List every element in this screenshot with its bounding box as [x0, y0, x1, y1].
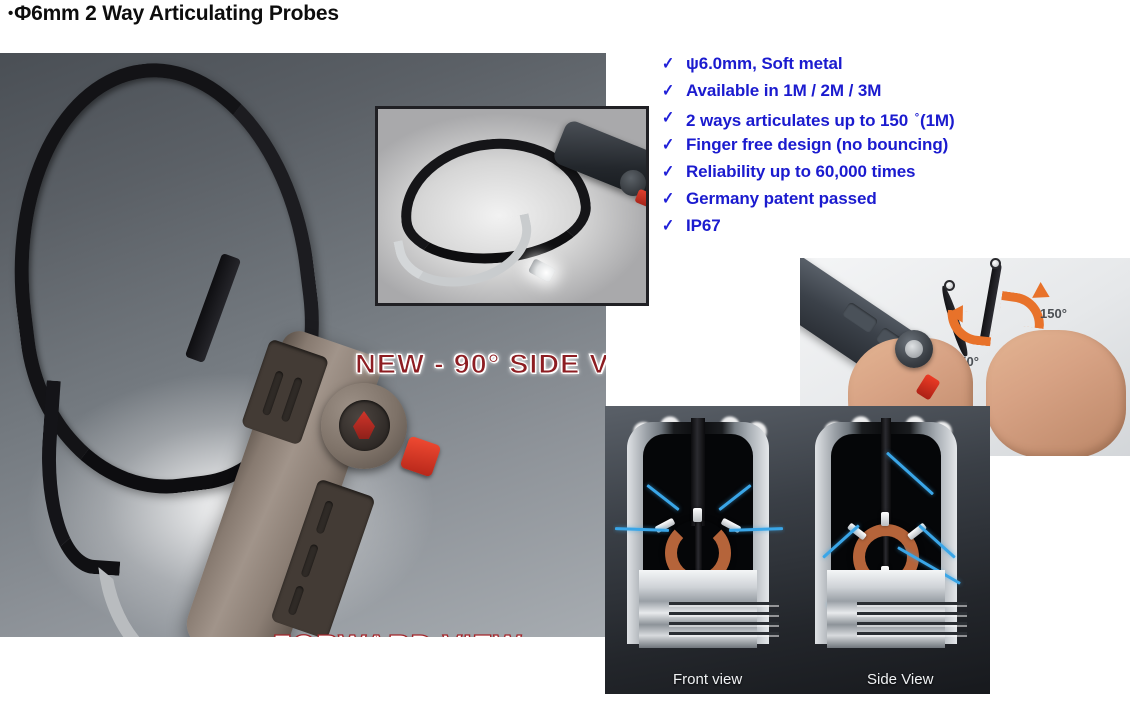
feature-list: ✓ ψ6.0mm, Soft metal ✓ Available in 1M /…: [660, 52, 1130, 241]
piston-ring: [857, 602, 967, 605]
probe-tip-icon: [944, 280, 955, 291]
check-icon: ✓: [662, 106, 684, 130]
list-item: ✓ Reliability up to 60,000 times: [660, 160, 1130, 187]
list-item: ✓ Finger free design (no bouncing): [660, 133, 1130, 160]
piston: [827, 570, 945, 648]
piston-ring: [857, 632, 967, 635]
right-hand: [986, 330, 1126, 456]
grip-rib: [315, 500, 334, 535]
front-view-diagram: [613, 412, 785, 650]
red-trigger-button[interactable]: [400, 436, 442, 478]
page-title: •Φ6mm 2 Way Articulating Probes: [8, 2, 339, 26]
feature-label: 2 ways articulates up to 150 °(1M): [686, 106, 955, 133]
grip-rib: [262, 370, 285, 416]
callout-forward-view: FORWARD VIEW: [273, 629, 523, 637]
grip-rib: [287, 585, 304, 616]
list-item: ✓ ψ6.0mm, Soft metal: [660, 52, 1130, 79]
piston-ring: [669, 622, 779, 625]
rotation-arrow-right-head: [1032, 282, 1054, 305]
piston-ring: [857, 622, 967, 625]
inset-led-light: [528, 258, 556, 283]
list-item: ✓ Available in 1M / 2M / 3M: [660, 79, 1130, 106]
list-item: ✓ Germany patent passed: [660, 187, 1130, 214]
cylinder-inspection-diagram: Front view Side View: [605, 406, 990, 694]
degree-symbol: °: [915, 112, 919, 124]
check-icon: ✓: [662, 187, 684, 211]
piston-ring: [669, 612, 779, 615]
handheld-dial-face: [905, 340, 923, 358]
feature-label: Germany patent passed: [686, 187, 877, 211]
grip-rib: [300, 543, 319, 578]
feature-label: Finger free design (no bouncing): [686, 133, 948, 157]
title-text: Φ6mm 2 Way Articulating Probes: [14, 2, 339, 25]
title-bullet-icon: •: [8, 5, 13, 22]
piston-ring: [669, 632, 779, 635]
side-view-inset-photo: [375, 106, 649, 306]
probe-cable-lower: [33, 380, 132, 576]
side-view-diagram: [801, 412, 973, 650]
list-item: ✓ IP67: [660, 214, 1130, 241]
piston: [639, 570, 757, 648]
feature-label: Available in 1M / 2M / 3M: [686, 79, 881, 103]
feature-label: ψ6.0mm, Soft metal: [686, 52, 843, 76]
mirror-head: [693, 508, 702, 522]
mirror-head: [881, 512, 889, 526]
check-icon: ✓: [662, 160, 684, 184]
grip-rib: [281, 377, 304, 423]
check-icon: ✓: [662, 79, 684, 103]
feature-label-part2: (1M): [920, 111, 955, 130]
callout-new-side-view: NEW - 90° SIDE VIEW: [355, 349, 606, 380]
grip-rib: [841, 301, 878, 333]
probe-tip-icon: [990, 258, 1001, 269]
check-icon: ✓: [662, 52, 684, 76]
feature-label-part1: 2 ways articulates up to 150: [686, 111, 913, 130]
check-icon: ✓: [662, 133, 684, 157]
feature-label: Reliability up to 60,000 times: [686, 160, 915, 184]
list-item: ✓ 2 ways articulates up to 150 °(1M): [660, 106, 1130, 133]
feature-label: IP67: [686, 214, 721, 238]
front-view-label: Front view: [673, 671, 742, 688]
piston-ring: [857, 612, 967, 615]
piston-ring: [669, 602, 779, 605]
angle-label-right: 150°: [1040, 306, 1067, 321]
check-icon: ✓: [662, 214, 684, 238]
side-view-label: Side View: [867, 671, 933, 688]
